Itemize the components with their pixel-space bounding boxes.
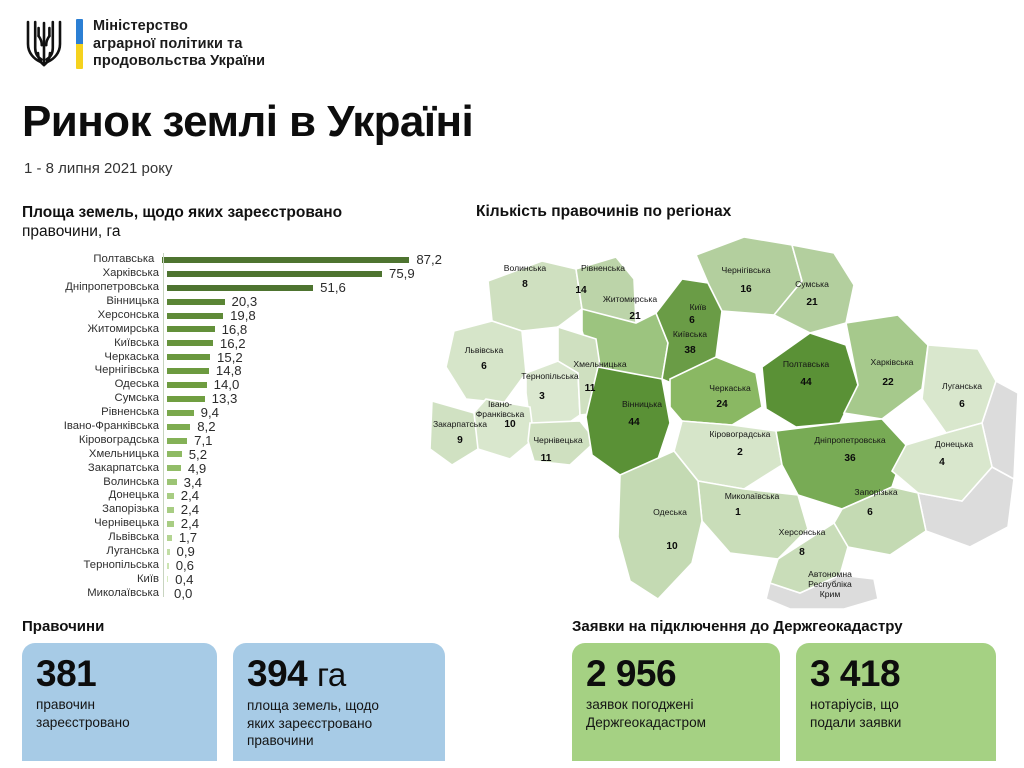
map-region-label: Одеська xyxy=(653,507,687,517)
infographic-root: Міністерство аграрної політики та продов… xyxy=(0,0,1024,768)
bar-row: Київська16,2 xyxy=(22,336,442,350)
bar-row: Сумська13,3 xyxy=(22,392,442,406)
stat-value: 394 га xyxy=(247,655,431,694)
bar-track: 13,3 xyxy=(163,392,442,406)
bar-value-label: 16,2 xyxy=(220,337,246,350)
bar-chart-title-bold: Площа земель, щодо яких зареєстровано xyxy=(22,204,342,221)
map-region-value: 36 xyxy=(844,453,856,464)
map-region-label: Київська xyxy=(673,329,707,339)
bar-fill xyxy=(167,299,225,305)
bar-category-label: Харківська xyxy=(22,268,163,279)
bar-value-label: 9,4 xyxy=(201,406,219,419)
bar-category-label: Донецька xyxy=(22,490,163,501)
ministry-name-line2: аграрної політики та xyxy=(93,36,265,54)
bar-fill xyxy=(167,396,205,402)
map-region-value: 8 xyxy=(522,279,528,290)
map-region-label: Чернівецька xyxy=(533,435,583,445)
bar-row: Вінницька20,3 xyxy=(22,295,442,309)
bar-category-label: Чернігівська xyxy=(22,365,163,376)
map-region-value: 44 xyxy=(628,417,640,428)
bar-category-label: Полтавська xyxy=(22,254,158,265)
map-region-value: 38 xyxy=(684,345,696,356)
map-region-label: Київ xyxy=(690,302,707,312)
bar-fill xyxy=(167,326,215,332)
bar-row: Чернівецька2,4 xyxy=(22,517,442,531)
map-region-value: 1 xyxy=(735,507,741,518)
cadastre-section-title: Заявки на підключення до Держгеокадастру xyxy=(572,618,1012,635)
bar-track: 5,2 xyxy=(163,447,442,461)
map-region-value: 22 xyxy=(882,377,894,388)
bar-fill xyxy=(167,410,194,416)
bar-track: 15,2 xyxy=(163,350,442,364)
bar-category-label: Кіровоградська xyxy=(22,435,163,446)
bar-value-label: 14,8 xyxy=(216,364,242,377)
bar-fill xyxy=(167,354,210,360)
bar-value-label: 13,3 xyxy=(212,392,238,405)
bar-track: 19,8 xyxy=(163,309,442,323)
bar-row: Луганська0,9 xyxy=(22,545,442,559)
map-region-value: 9 xyxy=(457,435,463,446)
bar-fill xyxy=(167,368,209,374)
bar-fill xyxy=(167,535,172,541)
bar-fill xyxy=(162,257,409,263)
bar-track: 20,3 xyxy=(163,295,442,309)
bar-fill xyxy=(167,507,174,513)
map-region-value: 6 xyxy=(689,315,695,326)
stat-unit: га xyxy=(317,656,346,693)
map-region-value: 8 xyxy=(799,547,805,558)
bar-category-label: Львівська xyxy=(22,532,163,543)
bar-row: Кіровоградська7,1 xyxy=(22,434,442,448)
bar-row: Запорізька2,4 xyxy=(22,503,442,517)
bar-row: Житомирська16,8 xyxy=(22,322,442,336)
bar-category-label: Хмельницька xyxy=(22,449,163,460)
bar-category-label: Одеська xyxy=(22,379,163,390)
stat-caption-line: Держгеокадастром xyxy=(586,715,706,730)
map-region-value: 21 xyxy=(806,297,818,308)
bar-row: Харківська75,9 xyxy=(22,267,442,281)
bar-chart-title: Площа земель, щодо яких зареєстровано пр… xyxy=(22,203,442,241)
bar-row: Херсонська19,8 xyxy=(22,309,442,323)
bar-chart-title-light: правочини, га xyxy=(22,223,120,240)
stat-caption-line: подали заявки xyxy=(810,715,901,730)
bar-track: 75,9 xyxy=(163,267,442,281)
bar-track: 0,0 xyxy=(163,586,442,600)
bar-value-label: 75,9 xyxy=(389,267,415,280)
bar-category-label: Закарпатська xyxy=(22,463,163,474)
bar-category-label: Луганська xyxy=(22,546,163,557)
bar-category-label: Вінницька xyxy=(22,296,163,307)
stat-caption: правочин зареєстровано xyxy=(36,696,203,731)
bar-category-label: Київ xyxy=(22,574,163,585)
map-region-label: Закарпатська xyxy=(433,419,487,429)
bar-chart-axis-line xyxy=(163,253,164,597)
bar-track: 2,4 xyxy=(163,503,442,517)
bar-track: 2,4 xyxy=(163,517,442,531)
bar-row: Полтавська87,2 xyxy=(22,253,442,267)
ministry-name-line3: продовольства України xyxy=(93,53,265,71)
bar-fill xyxy=(167,340,213,346)
bar-category-label: Волинська xyxy=(22,477,163,488)
map-region-value: 44 xyxy=(800,377,812,388)
map-region-label: Харківська xyxy=(871,357,914,367)
bar-row: Рівненська9,4 xyxy=(22,406,442,420)
bar-value-label: 8,2 xyxy=(197,420,215,433)
map-region-label: Луганська xyxy=(942,381,982,391)
stat-card-notaries: 3 418 нотаріусів, що подали заявки xyxy=(796,643,996,761)
bar-track: 0,4 xyxy=(163,572,442,586)
bar-track: 14,0 xyxy=(163,378,442,392)
map-region-value: 11 xyxy=(541,453,552,464)
map-region-value: 14 xyxy=(575,285,587,296)
map-region-Одеська[interactable] xyxy=(618,451,702,599)
bar-value-label: 15,2 xyxy=(217,351,243,364)
bar-category-label: Житомирська xyxy=(22,324,163,335)
stat-caption: нотаріусів, що подали заявки xyxy=(810,696,982,731)
ministry-name: Міністерство аграрної політики та продов… xyxy=(93,16,265,71)
cadastre-cards: 2 956 заявок погоджені Держгеокадастром … xyxy=(572,643,1012,761)
bar-value-label: 2,4 xyxy=(181,489,199,502)
map-region-label: Черкаська xyxy=(709,383,751,393)
bar-track: 14,8 xyxy=(163,364,442,378)
bar-fill xyxy=(167,451,182,457)
bar-value-label: 20,3 xyxy=(232,295,258,308)
bar-fill xyxy=(167,521,174,527)
ukraine-flag-bar xyxy=(76,19,83,69)
bar-row: Донецька2,4 xyxy=(22,489,442,503)
map-region-label: Сумська xyxy=(795,279,829,289)
map-region-label: Тернопільська xyxy=(521,371,579,381)
bar-track: 9,4 xyxy=(163,406,442,420)
stat-value: 381 xyxy=(36,655,203,693)
bar-fill xyxy=(167,465,181,471)
bar-value-label: 0,0 xyxy=(174,587,192,600)
bar-category-label: Запорізька xyxy=(22,504,163,515)
stat-value: 3 418 xyxy=(810,655,982,693)
bar-row: Львівська1,7 xyxy=(22,531,442,545)
bar-track: 0,9 xyxy=(163,545,442,559)
bar-value-label: 7,1 xyxy=(194,434,212,447)
map-region-value: 24 xyxy=(716,399,728,410)
stat-caption-line: зареєстровано xyxy=(36,715,130,730)
bar-category-label: Херсонська xyxy=(22,310,163,321)
bar-track: 16,8 xyxy=(163,322,442,336)
bar-row: Закарпатська4,9 xyxy=(22,461,442,475)
ministry-name-line1: Міністерство xyxy=(93,18,265,36)
bar-chart-panel: Площа земель, щодо яких зареєстровано пр… xyxy=(22,203,442,600)
bar-category-label: Сумська xyxy=(22,393,163,404)
bar-fill xyxy=(167,576,168,582)
map-region-label: Миколаївська xyxy=(725,491,780,501)
map-region-label: Хмельницька xyxy=(573,359,627,369)
map-region-value: 6 xyxy=(959,399,965,410)
deals-section-title: Правочини xyxy=(22,618,488,635)
ukraine-map: Волинська8Рівненська14Житомирська21Київ6… xyxy=(430,227,1024,609)
bar-fill xyxy=(167,493,174,499)
bar-fill xyxy=(167,285,313,291)
bar-value-label: 1,7 xyxy=(179,531,197,544)
bar-fill xyxy=(167,549,170,555)
map-region-label: Рівненська xyxy=(581,263,625,273)
map-region-label: Львівська xyxy=(465,345,504,355)
stat-caption: площа земель, щодо яких зареєстровано пр… xyxy=(247,697,431,750)
map-region-label: Дніпропетровська xyxy=(814,435,886,445)
stat-caption-line: правочин xyxy=(36,697,95,712)
bar-track: 16,2 xyxy=(163,336,442,350)
bar-value-label: 0,4 xyxy=(175,573,193,586)
bar-track: 0,6 xyxy=(163,559,442,573)
bar-track: 87,2 xyxy=(158,253,442,267)
bar-fill xyxy=(167,438,187,444)
map-region-label: Кіровоградська xyxy=(710,429,771,439)
bar-row: Одеська14,0 xyxy=(22,378,442,392)
bar-value-label: 0,6 xyxy=(176,559,194,572)
bar-track: 7,1 xyxy=(163,434,442,448)
map-region-value: 6 xyxy=(867,507,873,518)
map-region-Харківська[interactable] xyxy=(844,315,928,419)
bar-row: Тернопільська0,6 xyxy=(22,559,442,573)
bar-chart-rows: Полтавська87,2Харківська75,9Дніпропетров… xyxy=(22,253,442,600)
stat-card-approved-requests: 2 956 заявок погоджені Держгеокадастром xyxy=(572,643,780,761)
bar-row: Волинська3,4 xyxy=(22,475,442,489)
bar-value-label: 4,9 xyxy=(188,462,206,475)
stat-caption-line: заявок погоджені xyxy=(586,697,693,712)
bar-fill xyxy=(167,382,207,388)
bar-category-label: Чернівецька xyxy=(22,518,163,529)
map-region-value: 6 xyxy=(481,361,487,372)
bar-value-label: 2,4 xyxy=(181,517,199,530)
region-map-panel: Кількість правочинів по регіонах Волинсь… xyxy=(476,203,1024,221)
bar-row: Черкаська15,2 xyxy=(22,350,442,364)
map-region-label: Донецька xyxy=(935,439,974,449)
ukraine-map-svg: Волинська8Рівненська14Житомирська21Київ6… xyxy=(430,227,1024,609)
bar-fill xyxy=(167,424,190,430)
ukraine-trident-emblem xyxy=(22,16,66,72)
bar-track: 4,9 xyxy=(163,461,442,475)
deals-section: Правочини 381 правочин зареєстровано 394… xyxy=(22,618,488,761)
bar-track: 51,6 xyxy=(163,281,442,295)
bar-row: Хмельницька5,2 xyxy=(22,447,442,461)
bar-fill xyxy=(167,271,382,277)
stat-card-deals-count: 381 правочин зареєстровано xyxy=(22,643,217,761)
deals-cards: 381 правочин зареєстровано 394 га площа … xyxy=(22,643,488,761)
bar-value-label: 5,2 xyxy=(189,448,207,461)
map-region-label: Житомирська xyxy=(603,294,658,304)
bar-value-label: 19,8 xyxy=(230,309,256,322)
stat-caption: заявок погоджені Держгеокадастром xyxy=(586,696,766,731)
bar-track: 8,2 xyxy=(163,420,442,434)
map-region-value: 10 xyxy=(504,419,516,430)
bar-row: Миколаївська0,0 xyxy=(22,586,442,600)
stat-value: 2 956 xyxy=(586,655,766,693)
map-region-label: Херсонська xyxy=(779,527,826,537)
map-region-Закарпатська[interactable] xyxy=(430,401,478,465)
bar-value-label: 16,8 xyxy=(222,323,248,336)
page-subtitle-period: 1 - 8 липня 2021 року xyxy=(24,160,172,177)
map-region-value: 10 xyxy=(666,541,678,552)
bar-fill xyxy=(167,313,223,319)
stat-caption-line: яких зареєстровано xyxy=(247,716,372,731)
bar-value-label: 0,9 xyxy=(177,545,195,558)
bar-fill xyxy=(167,479,177,485)
bar-category-label: Дніпропетровська xyxy=(22,282,163,293)
bar-track: 2,4 xyxy=(163,489,442,503)
bar-row: Чернігівська14,8 xyxy=(22,364,442,378)
bar-track: 1,7 xyxy=(163,531,442,545)
flag-yellow-stripe xyxy=(76,44,83,69)
map-region-value: 16 xyxy=(740,284,752,295)
map-region-label: Чернігівська xyxy=(722,265,771,275)
page-title: Ринок землі в Україні xyxy=(22,100,473,144)
map-region-label: Полтавська xyxy=(783,359,830,369)
bar-fill xyxy=(167,563,169,569)
bar-row: Дніпропетровська51,6 xyxy=(22,281,442,295)
bar-row: Івано-Франківська8,2 xyxy=(22,420,442,434)
cadastre-requests-section: Заявки на підключення до Держгеокадастру… xyxy=(572,618,1012,761)
bar-value-label: 3,4 xyxy=(184,476,202,489)
bar-category-label: Київська xyxy=(22,338,163,349)
bar-category-label: Черкаська xyxy=(22,352,163,363)
bar-category-label: Миколаївська xyxy=(22,588,163,599)
map-title: Кількість правочинів по регіонах xyxy=(476,203,1024,221)
map-region-value: 21 xyxy=(629,311,641,322)
stat-caption-line: площа земель, щодо xyxy=(247,698,379,713)
bar-category-label: Рівненська xyxy=(22,407,163,418)
stat-caption-line: правочини xyxy=(247,733,314,748)
map-region-value: 4 xyxy=(939,457,945,468)
bar-track: 3,4 xyxy=(163,475,442,489)
map-region-label: Вінницька xyxy=(622,399,662,409)
map-region-value: 3 xyxy=(539,391,545,402)
stat-card-deals-area: 394 га площа земель, щодо яких зареєстро… xyxy=(233,643,445,761)
bar-category-label: Тернопільська xyxy=(22,560,163,571)
bar-value-label: 14,0 xyxy=(214,378,240,391)
bar-value-label: 2,4 xyxy=(181,503,199,516)
map-region-label: Запорізька xyxy=(854,487,897,497)
map-region-value: 11 xyxy=(585,383,596,394)
flag-blue-stripe xyxy=(76,19,83,44)
map-region-value: 2 xyxy=(737,447,743,458)
bar-value-label: 51,6 xyxy=(320,281,346,294)
stat-caption-line: нотаріусів, що xyxy=(810,697,899,712)
bar-row: Київ0,4 xyxy=(22,572,442,586)
ministry-brand: Міністерство аграрної політики та продов… xyxy=(22,16,265,72)
bar-category-label: Івано-Франківська xyxy=(22,421,163,432)
map-region-label: Волинська xyxy=(504,263,547,273)
stat-number: 394 xyxy=(247,653,307,694)
